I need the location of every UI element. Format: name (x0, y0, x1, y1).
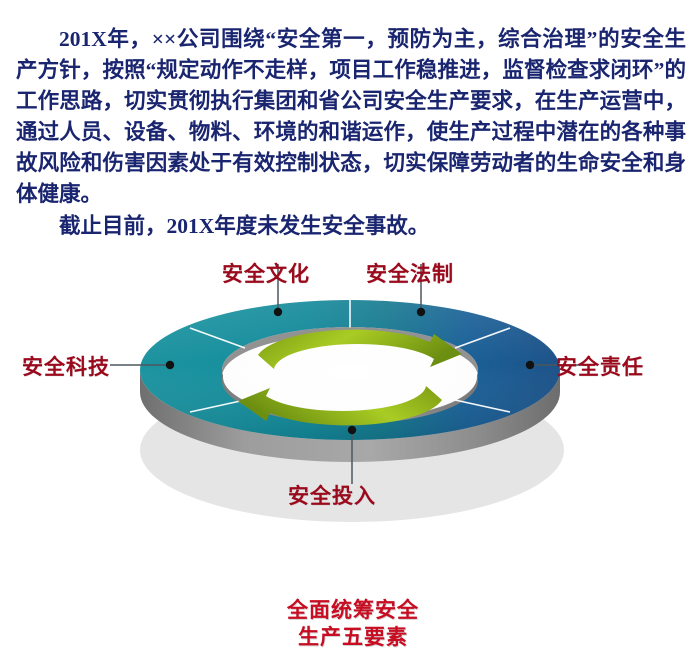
ring-label-safety-investment: 安全投入 (288, 484, 376, 508)
ring-label-safety-legal: 安全法制 (366, 262, 454, 286)
center-text: 全面统筹安全 生产五要素 (248, 597, 458, 651)
ring-label-safety-responsibility: 安全责任 (556, 355, 644, 379)
center-text-line-1: 全面统筹安全 (248, 597, 458, 624)
paragraph-1: 201X年，××公司围绕“安全第一，预防为主，综合治理”的安全生产方针，按照“规… (16, 24, 686, 210)
paragraph-2: 截止目前，201X年度未发生安全事故。 (16, 211, 686, 242)
ring-label-safety-technology: 安全科技 (22, 355, 110, 379)
center-text-line-2: 生产五要素 (248, 624, 458, 651)
ring-label-safety-culture: 安全文化 (222, 262, 310, 286)
body-text-block: 201X年，××公司围绕“安全第一，预防为主，综合治理”的安全生产方针，按照“规… (0, 24, 700, 242)
